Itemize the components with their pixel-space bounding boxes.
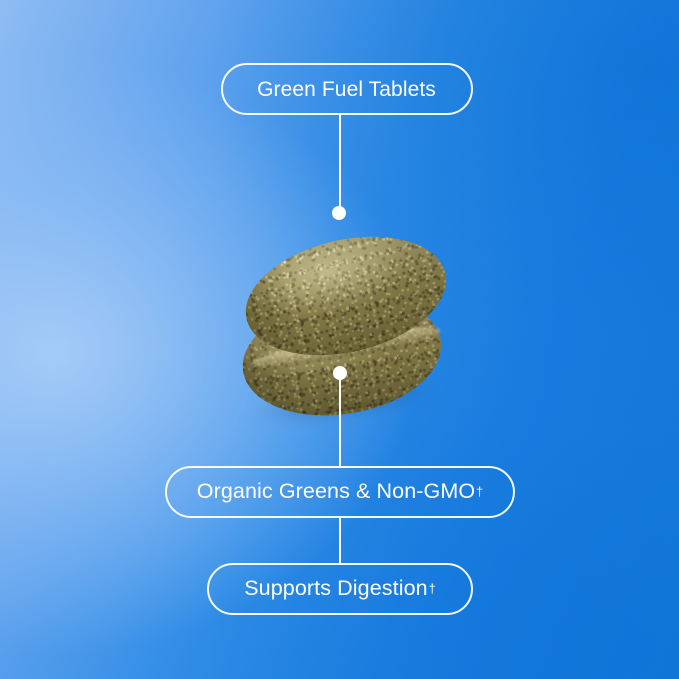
connector-dot-top xyxy=(332,206,346,220)
callout-organic-greens-non-gmo[interactable]: Organic Greens & Non-GMO† xyxy=(165,466,515,518)
callout-green-fuel-tablets[interactable]: Green Fuel Tablets xyxy=(221,63,473,115)
connector-line-top xyxy=(339,115,341,215)
infographic-canvas: Green Fuel Tablets Organic Greens & Non-… xyxy=(0,0,679,679)
callout-label-supports-digestion: Supports Digestion xyxy=(244,578,427,600)
callout-supports-digestion[interactable]: Supports Digestion† xyxy=(207,563,473,615)
product-tablets-image xyxy=(228,236,456,422)
connector-line-mid-to-bottom xyxy=(339,518,341,564)
callout-label-green-fuel-tablets: Green Fuel Tablets xyxy=(257,79,436,100)
callout-label-organic-greens-non-gmo: Organic Greens & Non-GMO xyxy=(197,481,475,503)
connector-line-bottom xyxy=(339,373,341,467)
